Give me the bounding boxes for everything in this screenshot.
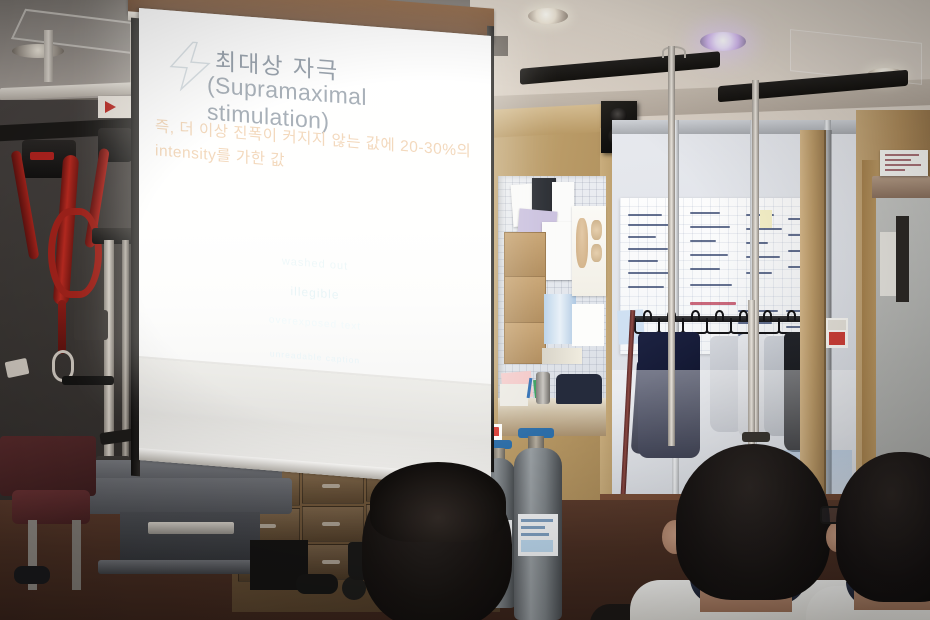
- hanger-icon[interactable]: [706, 310, 728, 336]
- shoe: [14, 566, 50, 584]
- cardboard-box: [504, 276, 546, 324]
- fire-exit-sticker: [826, 318, 848, 348]
- vertical-sign: [896, 216, 909, 302]
- cable-machine-handle[interactable]: [62, 376, 114, 385]
- projection-screen: 최대상 자극 (Supramaximal stimulation) 즉, 더 이…: [139, 8, 491, 488]
- student-hair-left: [370, 462, 506, 542]
- chair-back: [556, 374, 602, 404]
- treatment-table-pad: [12, 490, 90, 524]
- door-header: [872, 176, 930, 198]
- anatomy-poster: [572, 206, 606, 296]
- ceiling-pole: [44, 30, 53, 82]
- recessed-downlight-icon: [528, 8, 568, 24]
- suspension-strap-loop[interactable]: [48, 208, 102, 298]
- iv-pole: [668, 46, 675, 446]
- iv-pole-base: [742, 432, 770, 442]
- suspension-strap-tail[interactable]: [58, 300, 66, 354]
- cardboard-box: [504, 322, 546, 364]
- wall-notice-sign: [880, 150, 928, 176]
- cylinder-label: [518, 514, 558, 556]
- recessed-downlight-icon: [12, 44, 64, 58]
- sticky-note: [760, 210, 772, 228]
- treatment-table-maroon: [0, 436, 96, 496]
- tumbler-cup: [536, 372, 550, 404]
- door-panel-light: [880, 232, 896, 296]
- projected-image-area: 최대상 자극 (Supramaximal stimulation) 즉, 더 이…: [139, 8, 491, 384]
- cable-machine-carriage[interactable]: [74, 310, 108, 340]
- photo-scene: So: [0, 0, 930, 620]
- table-leg: [72, 520, 81, 590]
- lecture-slide: 최대상 자극 (Supramaximal stimulation) 즉, 더 이…: [139, 8, 491, 384]
- student-back-of-head-center: [676, 444, 830, 600]
- cable-machine-post: [104, 240, 114, 490]
- cable-machine-post: [122, 240, 129, 490]
- equipment-label-tag: [98, 96, 132, 118]
- cardboard-box: [504, 232, 546, 278]
- posted-sheet: [572, 304, 604, 346]
- table-tray: [148, 522, 234, 534]
- desk-box: [500, 384, 528, 406]
- binder-files: [542, 348, 582, 364]
- dumbbell[interactable]: [296, 574, 338, 594]
- bright-purple-downlight-icon: [700, 32, 746, 51]
- paper-stack: [542, 222, 572, 280]
- treatment-table: [78, 478, 292, 514]
